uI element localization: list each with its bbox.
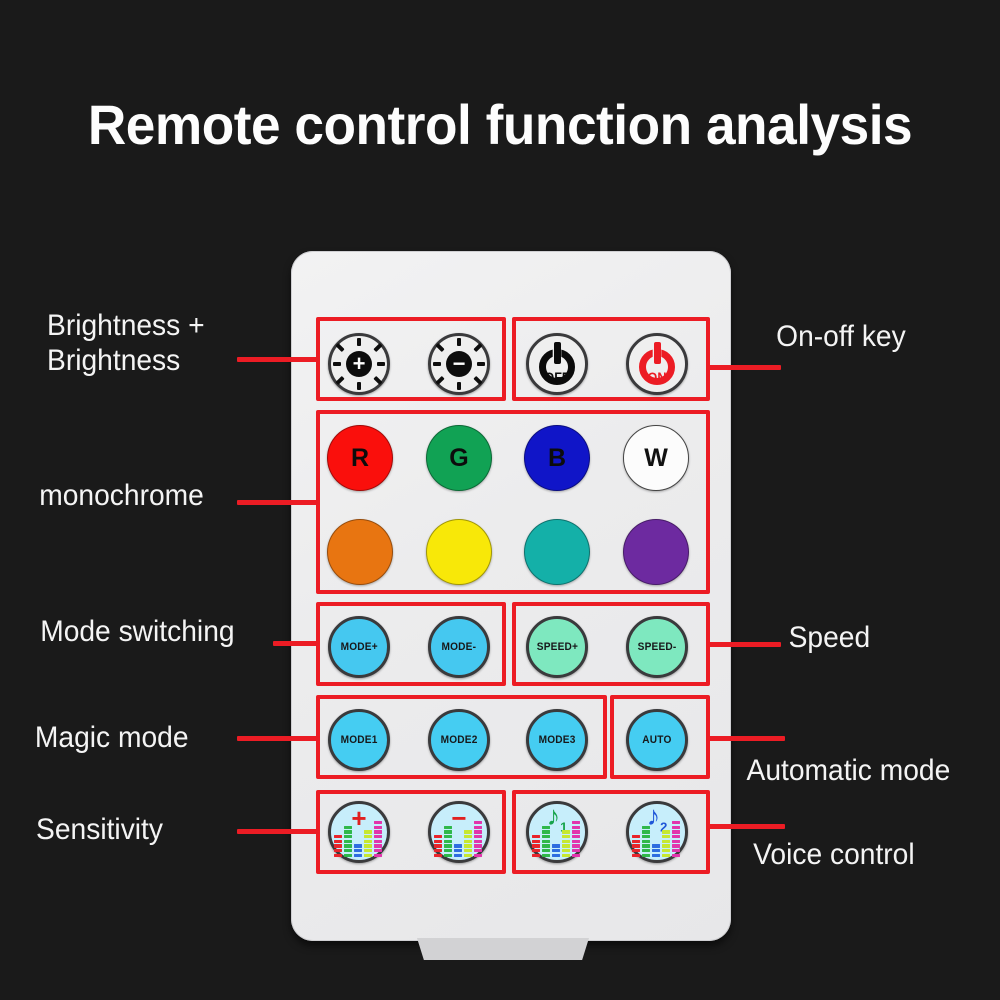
equalizer-segment xyxy=(542,830,550,833)
equalizer-segment xyxy=(572,826,580,829)
equalizer-bars xyxy=(334,827,384,857)
mode-3-button[interactable]: MODE3 xyxy=(526,709,588,771)
equalizer-segment xyxy=(474,821,482,824)
equalizer-bars xyxy=(434,827,484,857)
equalizer-column xyxy=(454,844,462,857)
equalizer-column xyxy=(632,835,640,857)
equalizer-segment xyxy=(672,821,680,824)
speed-plus-button[interactable]: SPEED+ xyxy=(526,616,588,678)
equalizer-segment xyxy=(672,835,680,838)
mode-minus-button[interactable]: MODE- xyxy=(428,616,490,678)
mode-minus-label: MODE- xyxy=(442,641,477,653)
leader-line-voice-control xyxy=(709,824,785,829)
equalizer-segment xyxy=(672,826,680,829)
color-orange-button[interactable] xyxy=(327,519,393,585)
music-note-2-icon: ♪2 xyxy=(630,807,684,857)
power-off-label: OFF xyxy=(535,369,578,385)
page-title: Remote control function analysis xyxy=(25,92,975,157)
equalizer-segment xyxy=(334,849,342,852)
equalizer-segment xyxy=(562,849,570,852)
speed-plus-label: SPEED+ xyxy=(536,641,577,653)
label-brightness-line2: Brightness xyxy=(47,343,205,378)
color-purple-button[interactable] xyxy=(623,519,689,585)
leader-line-brightness xyxy=(237,357,317,362)
equalizer-segment xyxy=(334,844,342,847)
equalizer-segment xyxy=(572,849,580,852)
power-icon: ON xyxy=(633,340,681,388)
sun-minus-icon: − xyxy=(433,338,485,390)
equalizer-column xyxy=(364,830,372,857)
label-mode-switching: Mode switching xyxy=(40,615,234,648)
equalizer-segment xyxy=(662,840,670,843)
equalizer-segment xyxy=(334,835,342,838)
battery-door-tab xyxy=(417,938,589,960)
equalizer-segment xyxy=(572,840,580,843)
equalizer-segment xyxy=(434,835,442,838)
color-green-label: G xyxy=(449,444,468,473)
equalizer-column xyxy=(354,844,362,857)
equalizer-segment xyxy=(344,826,352,829)
equalizer-bars xyxy=(532,827,582,857)
equalizer-segment xyxy=(542,854,550,857)
equalizer-segment xyxy=(354,849,362,852)
equalizer-segment xyxy=(662,835,670,838)
equalizer-segment xyxy=(562,835,570,838)
equalizer-segment xyxy=(364,854,372,857)
equalizer-segment xyxy=(354,844,362,847)
leader-line-automatic-mode xyxy=(709,736,785,741)
equalizer-segment xyxy=(464,835,472,838)
equalizer-segment xyxy=(454,849,462,852)
equalizer-segment xyxy=(542,835,550,838)
equalizer-segment xyxy=(334,854,342,857)
color-red-label: R xyxy=(351,444,369,473)
equalizer-segment xyxy=(532,835,540,838)
equalizer-segment xyxy=(632,840,640,843)
color-red-button[interactable]: R xyxy=(327,425,393,491)
equalizer-segment xyxy=(374,840,382,843)
equalizer-segment xyxy=(374,854,382,857)
voice-mode-1-button[interactable]: ♪1 xyxy=(526,801,588,863)
equalizer-column xyxy=(464,830,472,857)
minus-symbol: − xyxy=(446,351,472,377)
color-white-label: W xyxy=(644,444,668,473)
equalizer-segment xyxy=(672,854,680,857)
equalizer-segment xyxy=(652,849,660,852)
mode-2-label: MODE2 xyxy=(441,734,478,746)
sensitivity-down-button[interactable]: − xyxy=(428,801,490,863)
equalizer-segment xyxy=(532,854,540,857)
equalizer-segment xyxy=(354,854,362,857)
equalizer-segment xyxy=(364,849,372,852)
mode-1-label: MODE1 xyxy=(341,734,378,746)
equalizer-segment xyxy=(374,826,382,829)
equalizer-segment xyxy=(642,844,650,847)
leader-line-on-off-key xyxy=(709,365,781,370)
power-on-button[interactable]: ON xyxy=(626,333,688,395)
equalizer-segment xyxy=(632,849,640,852)
equalizer-segment xyxy=(542,849,550,852)
equalizer-segment xyxy=(652,854,660,857)
equalizer-bars xyxy=(632,827,682,857)
equalizer-segment xyxy=(444,830,452,833)
color-teal-button[interactable] xyxy=(524,519,590,585)
equalizer-segment xyxy=(474,840,482,843)
equalizer-segment xyxy=(632,835,640,838)
equalizer-segment xyxy=(572,830,580,833)
equalizer-column xyxy=(334,835,342,857)
auto-button[interactable]: AUTO xyxy=(626,709,688,771)
equalizer-segment xyxy=(344,830,352,833)
leader-line-speed xyxy=(709,642,781,647)
equalizer-segment xyxy=(474,849,482,852)
equalizer-segment xyxy=(374,835,382,838)
equalizer-plus-icon: + xyxy=(332,807,386,857)
brightness-up-button[interactable]: + xyxy=(328,333,390,395)
equalizer-segment xyxy=(672,840,680,843)
label-on-off-key: On-off key xyxy=(776,320,906,353)
equalizer-segment xyxy=(642,849,650,852)
equalizer-segment xyxy=(562,830,570,833)
equalizer-segment xyxy=(642,835,650,838)
equalizer-segment xyxy=(632,844,640,847)
equalizer-column xyxy=(642,826,650,857)
equalizer-segment xyxy=(454,854,462,857)
equalizer-column xyxy=(374,821,382,857)
equalizer-column xyxy=(652,844,660,857)
equalizer-segment xyxy=(444,854,452,857)
equalizer-segment xyxy=(344,844,352,847)
equalizer-segment xyxy=(344,854,352,857)
equalizer-segment xyxy=(532,849,540,852)
label-brightness-line1: Brightness + xyxy=(47,308,205,343)
equalizer-segment xyxy=(474,854,482,857)
color-yellow-button[interactable] xyxy=(426,519,492,585)
equalizer-segment xyxy=(434,840,442,843)
equalizer-segment xyxy=(642,840,650,843)
equalizer-segment xyxy=(364,830,372,833)
sun-plus-icon: + xyxy=(333,338,385,390)
equalizer-segment xyxy=(672,844,680,847)
equalizer-segment xyxy=(662,844,670,847)
equalizer-segment xyxy=(474,844,482,847)
equalizer-segment xyxy=(464,854,472,857)
equalizer-segment xyxy=(474,830,482,833)
equalizer-segment xyxy=(642,854,650,857)
leader-line-magic-mode xyxy=(237,736,317,741)
equalizer-column xyxy=(344,826,352,857)
equalizer-column xyxy=(662,830,670,857)
label-sensitivity: Sensitivity xyxy=(36,813,163,846)
equalizer-segment xyxy=(334,840,342,843)
equalizer-segment xyxy=(642,830,650,833)
equalizer-segment xyxy=(562,854,570,857)
label-automatic-mode: Automatic mode xyxy=(747,754,951,787)
mode-1-button[interactable]: MODE1 xyxy=(328,709,390,771)
label-magic-mode: Magic mode xyxy=(35,721,189,754)
speed-minus-label: SPEED- xyxy=(638,641,677,653)
equalizer-segment xyxy=(434,844,442,847)
equalizer-segment xyxy=(374,849,382,852)
equalizer-segment xyxy=(542,840,550,843)
equalizer-segment xyxy=(364,840,372,843)
equalizer-segment xyxy=(474,826,482,829)
equalizer-segment xyxy=(542,844,550,847)
mode-plus-label: MODE+ xyxy=(340,641,377,653)
power-off-button[interactable]: OFF xyxy=(526,333,588,395)
equalizer-segment xyxy=(632,854,640,857)
equalizer-column xyxy=(562,830,570,857)
equalizer-segment xyxy=(344,840,352,843)
equalizer-segment xyxy=(374,830,382,833)
equalizer-segment xyxy=(434,849,442,852)
equalizer-segment xyxy=(364,835,372,838)
label-speed: Speed xyxy=(789,621,871,654)
equalizer-segment xyxy=(444,849,452,852)
equalizer-segment xyxy=(464,849,472,852)
equalizer-segment xyxy=(572,821,580,824)
equalizer-segment xyxy=(454,844,462,847)
equalizer-column xyxy=(572,821,580,857)
equalizer-minus-icon: − xyxy=(432,807,486,857)
equalizer-segment xyxy=(444,844,452,847)
equalizer-segment xyxy=(444,835,452,838)
color-blue-button[interactable]: B xyxy=(524,425,590,491)
mode-plus-button[interactable]: MODE+ xyxy=(328,616,390,678)
voice-mode-2-button[interactable]: ♪2 xyxy=(626,801,688,863)
leader-line-monochrome xyxy=(237,500,317,505)
equalizer-segment xyxy=(374,844,382,847)
equalizer-segment xyxy=(364,844,372,847)
power-icon: OFF xyxy=(533,340,581,388)
equalizer-segment xyxy=(344,849,352,852)
equalizer-column xyxy=(474,821,482,857)
equalizer-segment xyxy=(552,854,560,857)
leader-line-mode-switching xyxy=(273,641,317,646)
equalizer-column xyxy=(542,826,550,857)
equalizer-segment xyxy=(532,844,540,847)
equalizer-segment xyxy=(562,844,570,847)
label-voice-control: Voice control xyxy=(753,838,914,871)
equalizer-segment xyxy=(662,830,670,833)
equalizer-segment xyxy=(374,821,382,824)
equalizer-segment xyxy=(464,844,472,847)
equalizer-segment xyxy=(464,830,472,833)
equalizer-segment xyxy=(474,835,482,838)
music-note-1-icon: ♪1 xyxy=(530,807,584,857)
equalizer-segment xyxy=(434,854,442,857)
equalizer-segment xyxy=(642,826,650,829)
equalizer-segment xyxy=(552,844,560,847)
equalizer-segment xyxy=(444,826,452,829)
label-monochrome: monochrome xyxy=(39,479,204,512)
color-green-button[interactable]: G xyxy=(426,425,492,491)
equalizer-column xyxy=(444,826,452,857)
annotated-remote-diagram: Remote control function analysis + xyxy=(0,0,1000,1000)
label-brightness: Brightness + Brightness xyxy=(47,308,205,379)
equalizer-column xyxy=(672,821,680,857)
equalizer-segment xyxy=(344,835,352,838)
equalizer-segment xyxy=(562,840,570,843)
brightness-down-button[interactable]: − xyxy=(428,333,490,395)
equalizer-segment xyxy=(652,844,660,847)
equalizer-segment xyxy=(542,826,550,829)
equalizer-segment xyxy=(672,849,680,852)
speed-minus-button[interactable]: SPEED- xyxy=(626,616,688,678)
equalizer-segment xyxy=(572,854,580,857)
equalizer-segment xyxy=(572,835,580,838)
equalizer-segment xyxy=(672,830,680,833)
equalizer-segment xyxy=(552,849,560,852)
equalizer-segment xyxy=(662,849,670,852)
equalizer-column xyxy=(434,835,442,857)
leader-line-sensitivity xyxy=(237,829,317,834)
equalizer-segment xyxy=(572,844,580,847)
sensitivity-up-button[interactable]: + xyxy=(328,801,390,863)
mode-2-button[interactable]: MODE2 xyxy=(428,709,490,771)
color-white-button[interactable]: W xyxy=(623,425,689,491)
equalizer-segment xyxy=(532,840,540,843)
equalizer-segment xyxy=(444,840,452,843)
plus-symbol: + xyxy=(346,351,372,377)
equalizer-segment xyxy=(662,854,670,857)
equalizer-column xyxy=(532,835,540,857)
power-on-label: ON xyxy=(635,369,678,385)
color-blue-label: B xyxy=(548,444,566,473)
auto-label: AUTO xyxy=(642,734,671,746)
equalizer-column xyxy=(552,844,560,857)
mode-3-label: MODE3 xyxy=(539,734,576,746)
equalizer-segment xyxy=(464,840,472,843)
